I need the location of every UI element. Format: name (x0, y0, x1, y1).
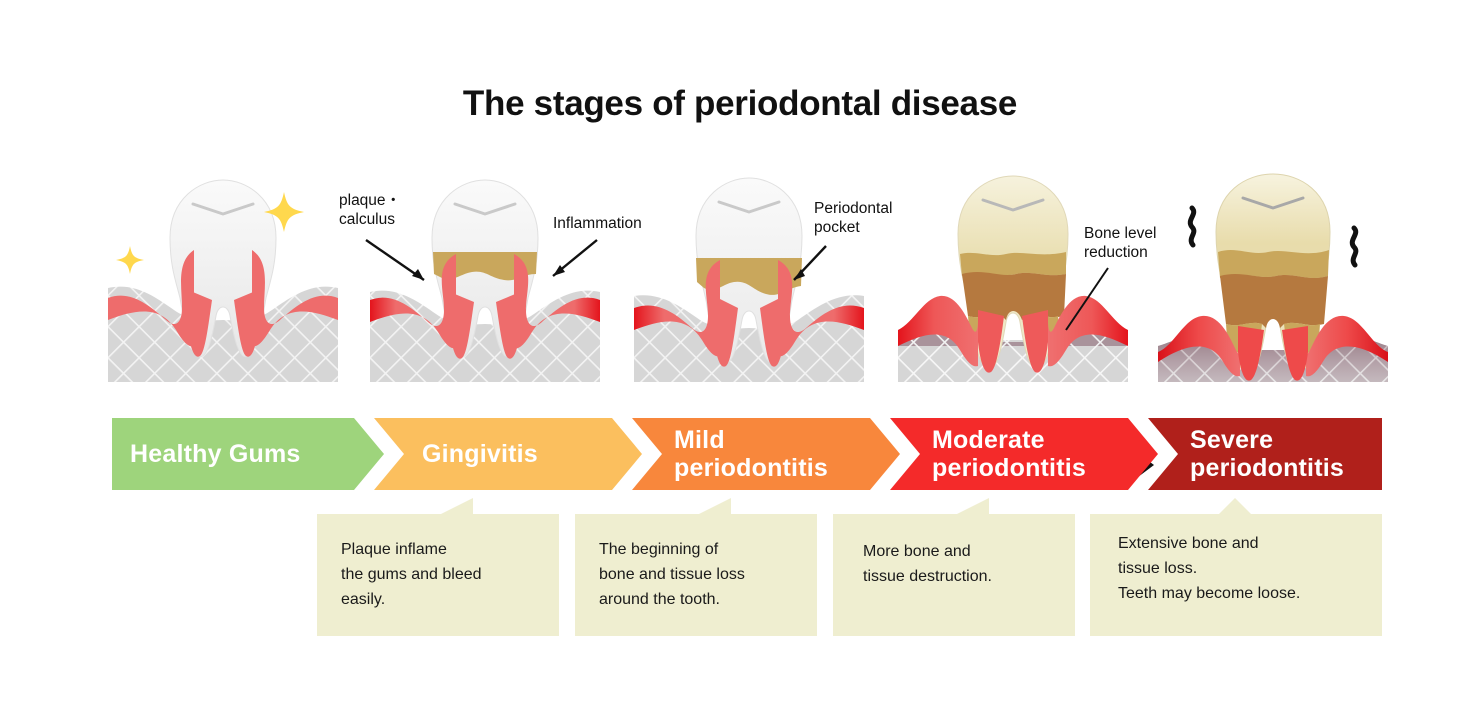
stage-band-mild-periodontitis[interactable]: Mild periodontitis (632, 418, 900, 490)
caption-box-mild-periodontitis: The beginning of bone and tissue loss ar… (575, 514, 817, 636)
tooth-figure-severe-periodontitis (1158, 170, 1388, 400)
leader-line-inflammation (545, 238, 605, 282)
stage-label-healthy-gums: Healthy Gums (130, 440, 301, 468)
caption-box-moderate-periodontitis: More bone and tissue destruction. (833, 514, 1075, 636)
caption-notch-severe-periodontitis (1218, 498, 1252, 515)
caption-text-moderate-periodontitis: More bone and tissue destruction. (863, 540, 1069, 590)
caption-notch-gingivitis (439, 498, 473, 515)
caption-box-severe-periodontitis: Extensive bone and tissue loss. Teeth ma… (1090, 514, 1382, 636)
stage-label-moderate-periodontitis: Moderate periodontitis (932, 426, 1086, 482)
caption-text-mild-periodontitis: The beginning of bone and tissue loss ar… (599, 538, 809, 612)
stage-label-severe-periodontitis: Severe periodontitis (1190, 426, 1344, 482)
leader-line-plaque-calculus (364, 238, 434, 286)
caption-box-gingivitis: Plaque inflame the gums and bleed easily… (317, 514, 559, 636)
stage-band-severe-periodontitis[interactable]: Severe periodontitis (1148, 418, 1382, 490)
tooth-figure-healthy-gums (108, 170, 338, 400)
stage-band-gingivitis[interactable]: Gingivitis (374, 418, 642, 490)
caption-notch-mild-periodontitis (697, 498, 731, 515)
stage-band-moderate-periodontitis[interactable]: Moderate periodontitis (890, 418, 1158, 490)
stage-banner: Healthy Gums Gingivitis Mild periodontit… (112, 418, 1382, 490)
stage-band-healthy-gums[interactable]: Healthy Gums (112, 418, 384, 490)
stage-label-mild-periodontitis: Mild periodontitis (674, 426, 828, 482)
caption-text-severe-periodontitis: Extensive bone and tissue loss. Teeth ma… (1118, 532, 1378, 606)
leader-line-periodontal-pocket (784, 244, 834, 288)
annotation-periodontal-pocket: Periodontal pocket (814, 199, 892, 238)
leader-line-bone-level-reduction (1060, 266, 1116, 336)
annotation-inflammation: Inflammation (553, 214, 642, 233)
illustration-strip (0, 170, 1480, 400)
annotation-bone-level-reduction: Bone level reduction (1084, 224, 1156, 263)
tooth (1216, 174, 1330, 373)
caption-notch-moderate-periodontitis (955, 498, 989, 515)
caption-text-gingivitis: Plaque inflame the gums and bleed easily… (341, 538, 551, 612)
stage-label-gingivitis: Gingivitis (422, 440, 538, 468)
annotation-plaque-calculus: plaque・ calculus (339, 191, 401, 230)
page-title: The stages of periodontal disease (0, 84, 1480, 124)
